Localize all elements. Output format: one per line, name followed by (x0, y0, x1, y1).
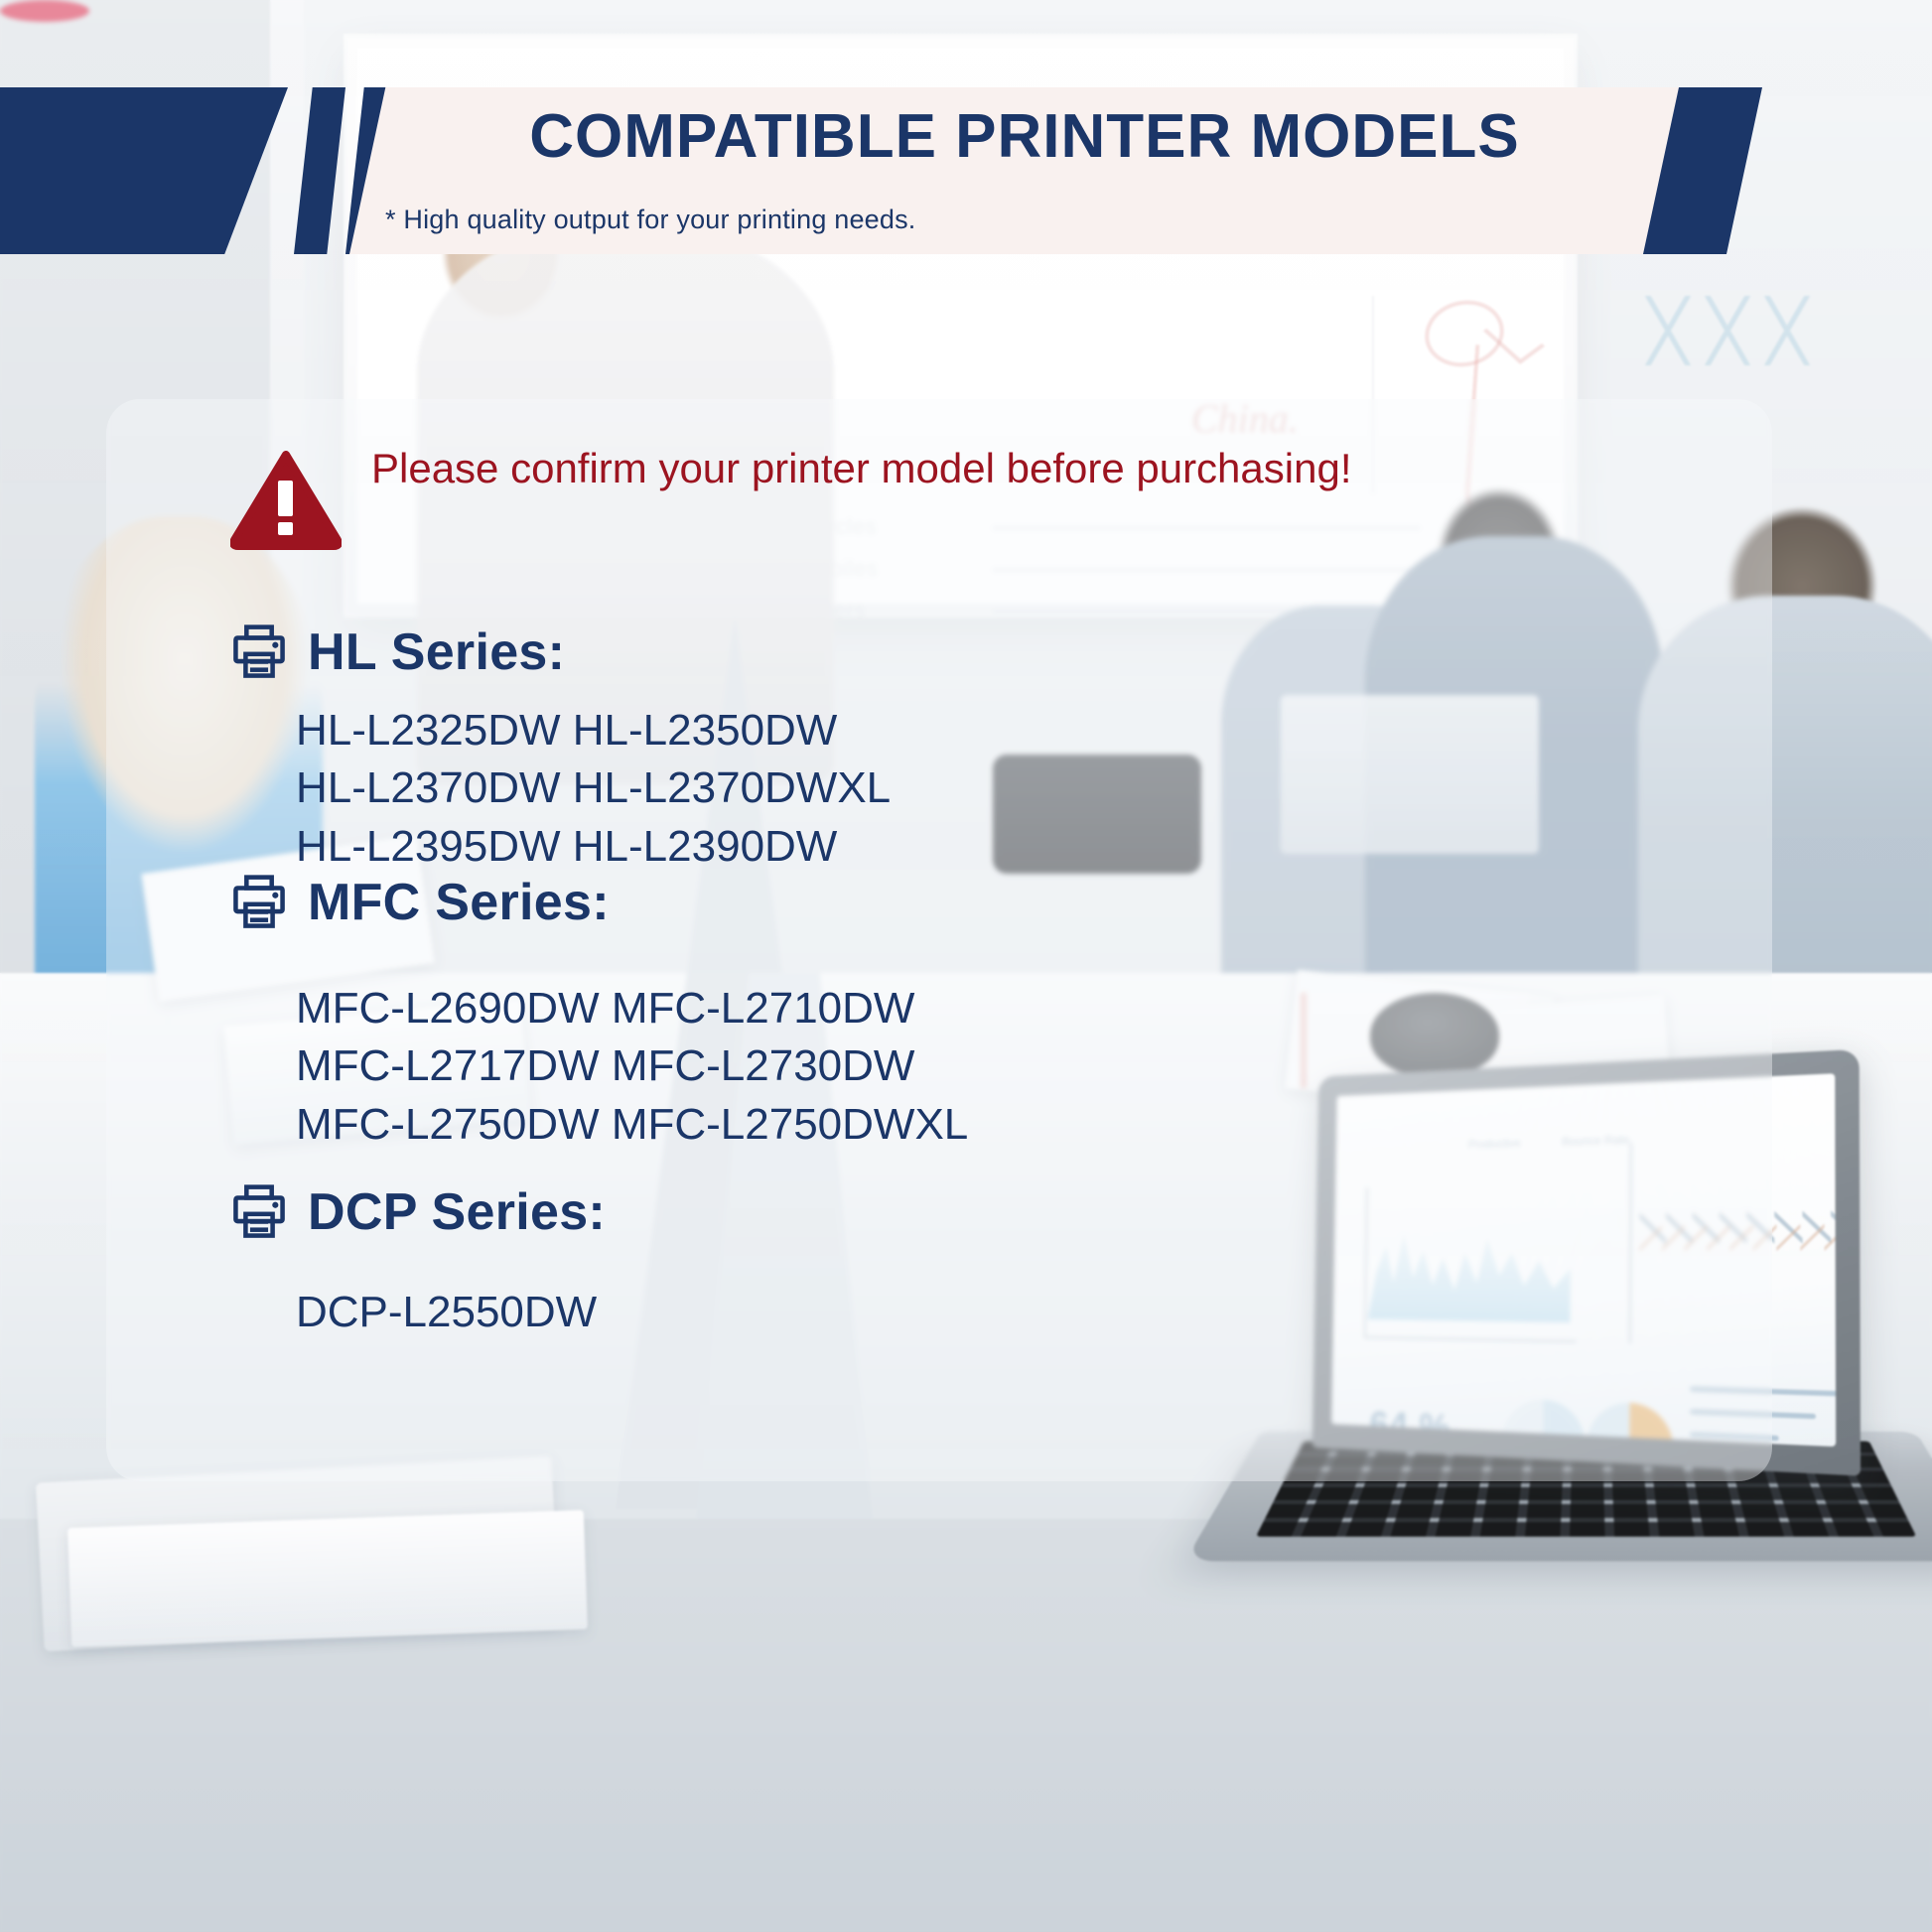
section-title: MFC Series: (308, 877, 610, 928)
section-header: MFC Series: (230, 874, 968, 931)
model-line: DCP-L2550DW (296, 1285, 606, 1340)
model-list: MFC-L2690DW MFC-L2710DW MFC-L2717DW MFC-… (296, 981, 968, 1153)
section-hl-series: HL Series: HL-L2325DW HL-L2350DW HL-L237… (230, 623, 891, 877)
model-line: HL-L2325DW HL-L2350DW (296, 703, 891, 759)
model-line: MFC-L2717DW MFC-L2730DW (296, 1038, 968, 1094)
header-banner: COMPATIBLE PRINTER MODELS * High quality… (0, 87, 1932, 254)
printer-icon (230, 1183, 288, 1241)
banner-left-block (0, 87, 288, 254)
printer-icon (230, 623, 288, 681)
section-title: DCP Series: (308, 1186, 606, 1238)
model-line: MFC-L2690DW MFC-L2710DW (296, 981, 968, 1036)
warning-triangle-icon (230, 451, 342, 550)
page-title: COMPATIBLE PRINTER MODELS (409, 95, 1640, 179)
warning-message: Please confirm your printer model before… (371, 439, 1473, 498)
banner-stripe (294, 87, 345, 254)
section-dcp-series: DCP Series: DCP-L2550DW (230, 1183, 606, 1342)
paper-document (68, 1510, 588, 1647)
infographic-canvas: China. motorcycles automobiles helicopte… (0, 0, 1932, 1932)
section-title: HL Series: (308, 626, 565, 678)
whiteboard-zigzag-line (1638, 296, 1817, 365)
section-mfc-series: MFC Series: MFC-L2690DW MFC-L2710DW MFC-… (230, 874, 968, 1155)
model-list: HL-L2325DW HL-L2350DW HL-L2370DW HL-L237… (296, 703, 891, 875)
page-subtitle: * High quality output for your printing … (385, 205, 916, 235)
model-line: HL-L2370DW HL-L2370DWXL (296, 760, 891, 816)
section-header: DCP Series: (230, 1183, 606, 1241)
printer-icon (230, 874, 288, 931)
person-fingernails (0, 0, 89, 22)
section-header: HL Series: (230, 623, 891, 681)
model-line: MFC-L2750DW MFC-L2750DWXL (296, 1097, 968, 1153)
model-line: HL-L2395DW HL-L2390DW (296, 819, 891, 875)
model-list: DCP-L2550DW (296, 1285, 606, 1340)
